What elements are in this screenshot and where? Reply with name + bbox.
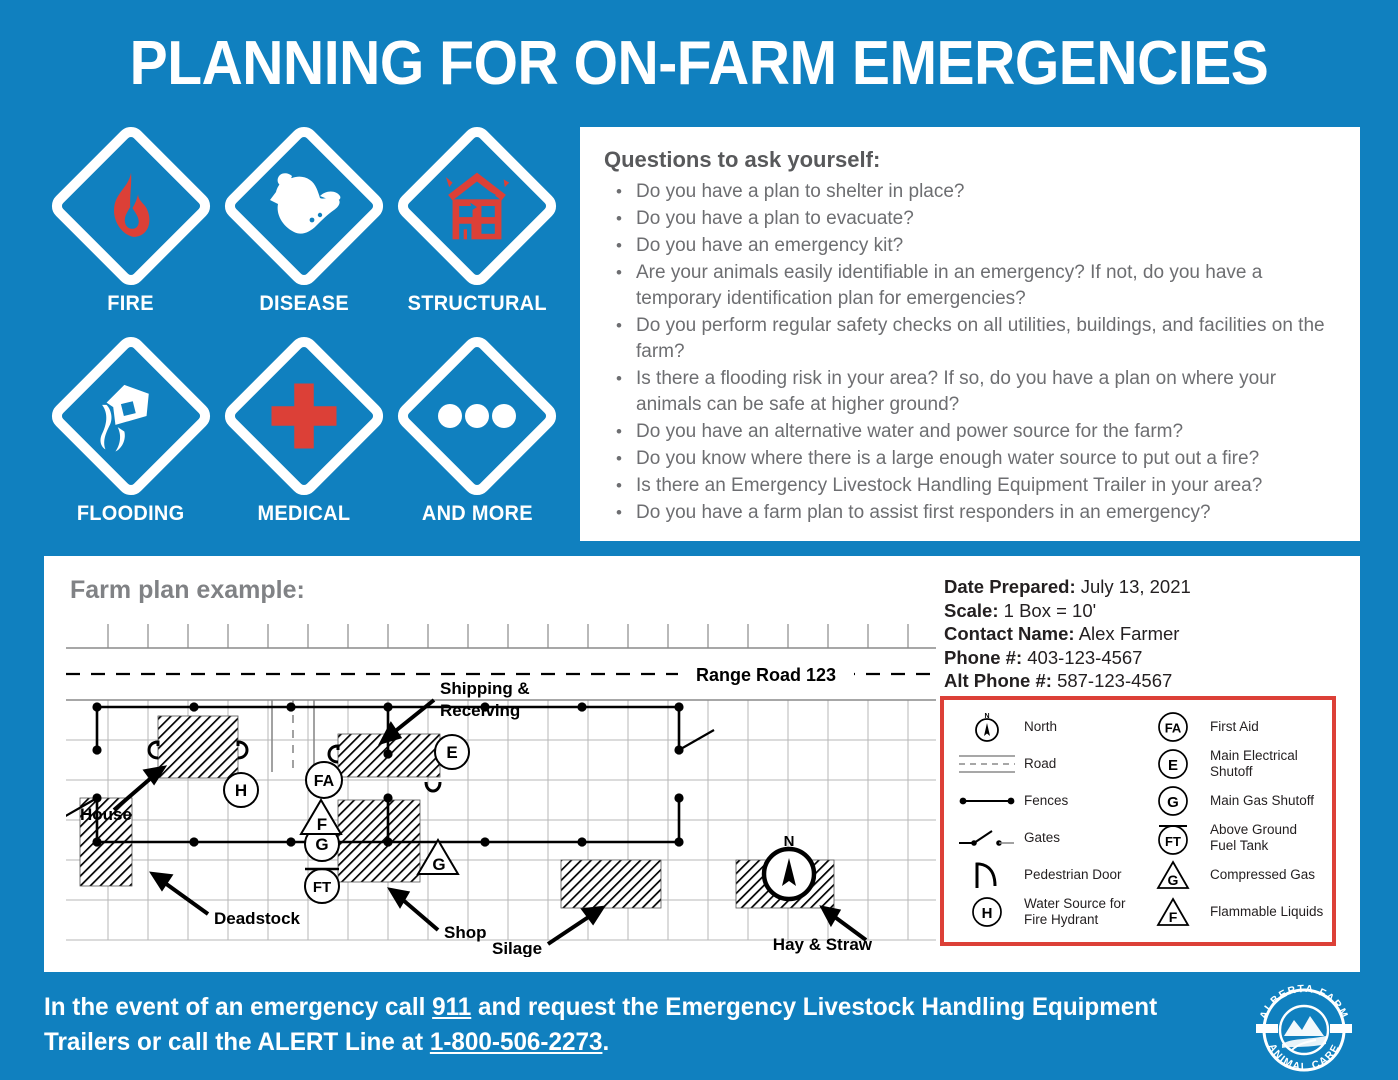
question-item: Do you know where there is a large enoug… [604, 446, 1336, 472]
info-key: Alt Phone #: [944, 670, 1052, 691]
question-item: Do you perform regular safety checks on … [604, 313, 1336, 365]
callout-silage: Silage [492, 939, 542, 957]
legend-label: Road [1018, 756, 1056, 772]
circle-fa-icon: FA [1142, 710, 1204, 744]
pedestrian-door-icon [956, 858, 1018, 892]
diamond-frame [46, 121, 216, 291]
callout-shop: Shop [444, 923, 487, 942]
map-compass-icon: N [764, 833, 814, 899]
info-key: Contact Name: [944, 623, 1075, 644]
legend-label: Compressed Gas [1204, 867, 1315, 883]
info-row-alt-phone: Alt Phone #: 587-123-4567 [944, 669, 1191, 693]
legend-label: Water Source for Fire Hydrant [1018, 896, 1140, 928]
info-value: 1 Box = 10' [1004, 600, 1097, 621]
circle-ft-bar-icon: FT [1142, 821, 1204, 855]
questions-title: Questions to ask yourself: [604, 147, 1336, 173]
svg-text:FT: FT [313, 879, 331, 896]
map-marker-G-triangle: G [418, 840, 458, 874]
legend-column-left: N North Road [956, 710, 1140, 934]
info-value: 403-123-4567 [1027, 647, 1142, 668]
hazard-item-fire: FIRE [44, 126, 217, 336]
legend-row-road: Road [956, 747, 1140, 781]
info-key: Phone #: [944, 647, 1022, 668]
compass-icon: N [956, 710, 1018, 744]
callout-deadstock: Deadstock [214, 909, 301, 928]
svg-text:G: G [315, 835, 328, 854]
hazard-item-structural: STRUCTURAL [391, 126, 564, 336]
flood-house-icon [91, 376, 171, 456]
gate-icon [956, 821, 1018, 855]
hazard-label: AND MORE [422, 502, 533, 526]
page-title: PLANNING FOR ON-FARM EMERGENCIES [56, 28, 1342, 99]
map-marker-FA: FA [306, 762, 342, 798]
map-marker-F-triangle: F [301, 800, 341, 834]
svg-text:FA: FA [314, 773, 335, 790]
logo-top-text: ALBERTA FARM [1257, 983, 1350, 1021]
info-row-scale: Scale: 1 Box = 10' [944, 599, 1191, 623]
info-value: July 13, 2021 [1081, 576, 1191, 597]
hazard-item-disease: DISEASE [217, 126, 390, 336]
legend-row-fences: Fences [956, 784, 1140, 818]
svg-text:G: G [1168, 872, 1179, 888]
question-item: Do you have an emergency kit? [604, 233, 1336, 259]
legend-row-gates: Gates [956, 821, 1140, 855]
callout-shipping-receiving: Shipping & [440, 679, 530, 698]
range-road-label: Range Road 123 [696, 665, 836, 685]
legend-row-compressed-gas: G Compressed Gas [1142, 858, 1326, 892]
info-row-phone: Phone #: 403-123-4567 [944, 646, 1191, 670]
question-item: Is there a flooding risk in your area? I… [604, 366, 1336, 418]
legend-row-first-aid: FA First Aid [1142, 710, 1326, 744]
hydrant-circle-h-icon: H [956, 895, 1018, 929]
map-marker-H: H [224, 773, 258, 807]
callout-shipping-receiving-2: Receiving [440, 701, 520, 720]
legend-label: Gates [1018, 830, 1060, 846]
hazard-item-and-more: AND MORE [391, 336, 564, 546]
diamond-frame [219, 331, 389, 501]
legend-row-flammable-liquids: F Flammable Liquids [1142, 895, 1326, 929]
svg-text:H: H [982, 905, 993, 922]
afac-logo: ALBERTA FARM ANIMAL CARE [1248, 982, 1360, 1074]
map-marker-E: E [435, 735, 469, 769]
infographic-page: PLANNING FOR ON-FARM EMERGENCIES FIRE [0, 0, 1398, 1080]
farm-plan-title: Farm plan example: [70, 576, 305, 605]
hazard-label: STRUCTURAL [408, 292, 547, 316]
hazard-label: FLOODING [77, 502, 185, 526]
compass-north-label: N [784, 833, 795, 850]
cow-head-icon [262, 168, 346, 244]
footer-text-c: . [602, 1028, 609, 1056]
legend-row-fuel-tank: FT Above Ground Fuel Tank [1142, 821, 1326, 855]
damaged-house-icon [437, 166, 517, 246]
circle-g-icon: G [1142, 784, 1204, 818]
legend-label: Fences [1018, 793, 1068, 809]
hazard-item-medical: MEDICAL [217, 336, 390, 546]
map-legend: N North Road [940, 696, 1336, 946]
triangle-f-icon: F [1142, 895, 1204, 929]
triangle-g-icon: G [1142, 858, 1204, 892]
callout-house: House [80, 805, 132, 824]
hazard-label: MEDICAL [258, 502, 351, 526]
question-item: Do you have an alternative water and pow… [604, 419, 1336, 445]
question-item: Is there an Emergency Livestock Handling… [604, 473, 1336, 499]
svg-text:E: E [1168, 757, 1178, 774]
question-item: Do you have a plan to evacuate? [604, 206, 1336, 232]
alert-line-number: 1-800-506-2273 [430, 1028, 603, 1056]
info-row-date: Date Prepared: July 13, 2021 [944, 575, 1191, 599]
farm-plan-panel: Farm plan example: Date Prepared: July 1… [44, 556, 1360, 972]
farm-plan-info: Date Prepared: July 13, 2021 Scale: 1 Bo… [944, 575, 1191, 693]
svg-text:E: E [446, 743, 457, 762]
svg-text:G: G [1167, 794, 1179, 811]
question-item: Do you have a farm plan to assist first … [604, 500, 1336, 526]
questions-list: Do you have a plan to shelter in place? … [604, 179, 1336, 526]
svg-text:FA: FA [1165, 721, 1182, 736]
road-icon [956, 747, 1018, 781]
building-silage [561, 860, 661, 908]
legend-row-gas-shutoff: G Main Gas Shutoff [1142, 784, 1326, 818]
info-value: Alex Farmer [1079, 623, 1180, 644]
legend-label: Flammable Liquids [1204, 904, 1323, 920]
diamond-frame [219, 121, 389, 291]
flame-icon [93, 168, 169, 244]
legend-label: North [1018, 719, 1057, 735]
diamond-frame [392, 331, 562, 501]
svg-text:H: H [235, 781, 247, 800]
svg-text:F: F [317, 815, 327, 834]
question-item: Are your animals easily identifiable in … [604, 260, 1336, 312]
map-marker-FT: FT [305, 869, 339, 903]
svg-text:G: G [432, 855, 445, 874]
circle-e-icon: E [1142, 747, 1204, 781]
info-value: 587-123-4567 [1057, 670, 1172, 691]
legend-label: Pedestrian Door [1018, 867, 1122, 883]
svg-text:FT: FT [1165, 834, 1181, 849]
svg-text:N: N [984, 713, 989, 720]
medical-cross-icon [265, 377, 343, 455]
hazard-label: FIRE [107, 292, 154, 316]
info-key: Scale: [944, 600, 999, 621]
footer-text-a: In the event of an emergency call [44, 993, 432, 1021]
hazard-label: DISEASE [259, 292, 349, 316]
legend-row-pedestrian-door: Pedestrian Door [956, 858, 1140, 892]
hazard-icon-grid: FIRE DISEASE [44, 126, 564, 546]
hazard-item-flooding: FLOODING [44, 336, 217, 546]
legend-row-electrical-shutoff: E Main Electrical Shutoff [1142, 747, 1326, 781]
fence-icon [956, 784, 1018, 818]
svg-text:F: F [1169, 909, 1178, 925]
info-key: Date Prepared: [944, 576, 1076, 597]
emergency-footer: In the event of an emergency call 911 an… [44, 990, 1189, 1060]
info-row-contact: Contact Name: Alex Farmer [944, 622, 1191, 646]
legend-label: Main Electrical Shutoff [1204, 748, 1326, 780]
callout-hay-straw: Hay & Straw [773, 935, 873, 954]
svg-text:ALBERTA FARM: ALBERTA FARM [1257, 983, 1350, 1021]
legend-row-north: N North [956, 710, 1140, 744]
legend-label: Main Gas Shutoff [1204, 793, 1314, 809]
ellipsis-icon [437, 403, 517, 429]
diamond-frame [392, 121, 562, 291]
questions-panel: Questions to ask yourself: Do you have a… [580, 127, 1360, 541]
legend-label: First Aid [1204, 719, 1259, 735]
legend-row-water-source: H Water Source for Fire Hydrant [956, 895, 1140, 929]
legend-column-right: FA First Aid E Main Electrical Shutoff [1142, 710, 1326, 934]
building-house [158, 716, 238, 778]
legend-label: Above Ground Fuel Tank [1204, 822, 1326, 854]
diamond-frame [46, 331, 216, 501]
farm-plan-map: Range Road 123 [66, 612, 936, 957]
emergency-number: 911 [432, 993, 471, 1021]
question-item: Do you have a plan to shelter in place? [604, 179, 1336, 205]
